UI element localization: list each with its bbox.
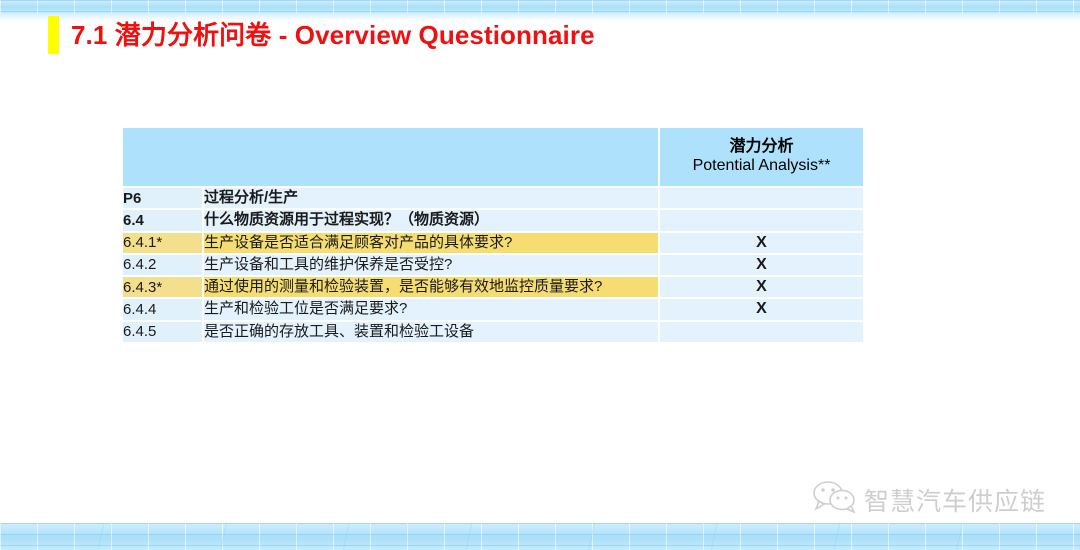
table-row: 6.4.5是否正确的存放工具、装置和检验工设备 [123,321,864,343]
watermark: 智慧汽车供应链 [812,480,1046,519]
row-potential-analysis-mark: X [659,276,864,298]
table-row: P6过程分析/生产 [123,187,864,209]
table-row: 6.4.1*生产设备是否适合满足顾客对产品的具体要求?X [123,232,864,254]
row-potential-analysis-mark: X [659,232,864,254]
header-blank-cell [123,128,659,187]
row-id-cell: 6.4.5 [123,321,203,343]
row-question-cell: 生产设备是否适合满足顾客对产品的具体要求? [203,232,659,254]
row-potential-analysis-mark [659,321,864,343]
header-pa-label-cn: 潜力分析 [660,138,863,157]
row-question-cell: 生产和检验工位是否满足要求? [203,298,659,320]
slide-title-row: 7.1 潜力分析问卷 - Overview Questionnaire [48,16,595,54]
row-id-cell: 6.4 [123,209,203,231]
row-potential-analysis-mark [659,209,864,231]
row-id-cell: 6.4.4 [123,298,203,320]
table-header: 潜力分析 Potential Analysis** [123,128,864,187]
top-grid-band [0,0,1080,13]
row-potential-analysis-mark: X [659,254,864,276]
row-id-cell: 6.4.1* [123,232,203,254]
wechat-icon [812,480,858,519]
table-row: 6.4什么物质资源用于过程实现？（物质资源） [123,209,864,231]
row-id-cell: 6.4.2 [123,254,203,276]
watermark-text: 智慧汽车供应链 [864,482,1046,518]
row-question-cell: 通过使用的测量和检验装置，是否能够有效地监控质量要求? [203,276,659,298]
title-accent-marker [48,16,59,54]
row-question-cell: 过程分析/生产 [203,187,659,209]
table-body: P6过程分析/生产6.4什么物质资源用于过程实现？（物质资源）6.4.1*生产设… [123,187,864,343]
row-id-cell: P6 [123,187,203,209]
row-question-cell: 什么物质资源用于过程实现？（物质资源） [203,209,659,231]
row-potential-analysis-mark: X [659,298,864,320]
questionnaire-table: 潜力分析 Potential Analysis** P6过程分析/生产6.4什么… [123,128,865,344]
row-question-cell: 是否正确的存放工具、装置和检验工设备 [203,321,659,343]
page-title: 7.1 潜力分析问卷 - Overview Questionnaire [71,16,595,54]
row-id-cell: 6.4.3* [123,276,203,298]
table-row: 6.4.3*通过使用的测量和检验装置，是否能够有效地监控质量要求?X [123,276,864,298]
table-row: 6.4.2生产设备和工具的维护保养是否受控?X [123,254,864,276]
row-potential-analysis-mark [659,187,864,209]
table-header-row: 潜力分析 Potential Analysis** [123,128,864,187]
bottom-grid-band [0,523,1080,550]
header-pa-label-en: Potential Analysis** [660,157,863,176]
table-row: 6.4.4生产和检验工位是否满足要求?X [123,298,864,320]
header-potential-analysis: 潜力分析 Potential Analysis** [659,128,864,187]
row-question-cell: 生产设备和工具的维护保养是否受控? [203,254,659,276]
